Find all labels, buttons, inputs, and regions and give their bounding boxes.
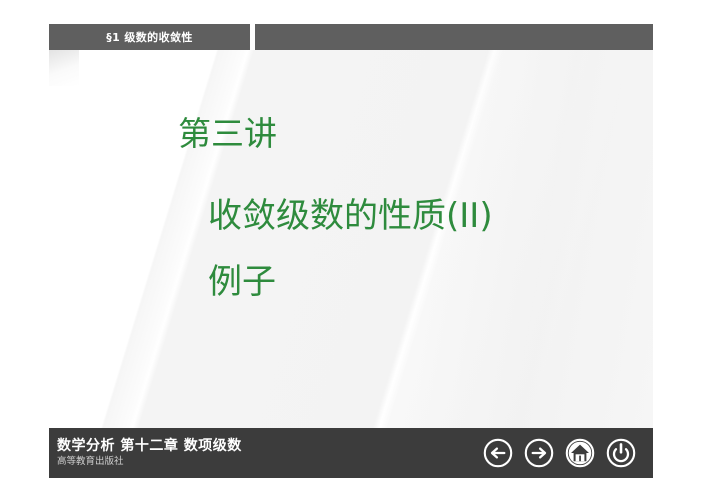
- power-icon[interactable]: [605, 437, 637, 469]
- lecture-main-title: 收敛级数的性质(II): [208, 197, 653, 235]
- footer-bar: 数学分析 第十二章 数项级数 高等教育出版社: [49, 428, 653, 478]
- home-icon[interactable]: [564, 437, 596, 469]
- footer-book-chapter: 数学分析 第十二章 数项级数: [57, 438, 242, 456]
- page-fold-shadow: [49, 50, 79, 86]
- forward-arrow-icon[interactable]: [523, 437, 555, 469]
- section-tab-bar: §1 级数的收敛性: [49, 24, 653, 50]
- lecture-number-title: 第三讲: [178, 116, 653, 153]
- lecture-subtitle: 例子: [208, 263, 653, 301]
- tab-section-1[interactable]: §1 级数的收敛性: [49, 24, 250, 50]
- footer-publisher: 高等教育出版社: [57, 456, 242, 468]
- tab-section-2[interactable]: [255, 24, 653, 50]
- back-arrow-icon[interactable]: [482, 437, 514, 469]
- tab-section-1-label: §1 级数的收敛性: [106, 29, 193, 45]
- footer-text-group: 数学分析 第十二章 数项级数 高等教育出版社: [57, 438, 242, 468]
- slide-canvas: §1 级数的收敛性 第三讲 收敛级数的性质(II) 例子 数学分析 第十二章 数…: [49, 24, 653, 478]
- title-block: 第三讲 收敛级数的性质(II) 例子: [49, 116, 653, 301]
- navigation-buttons: [482, 437, 643, 469]
